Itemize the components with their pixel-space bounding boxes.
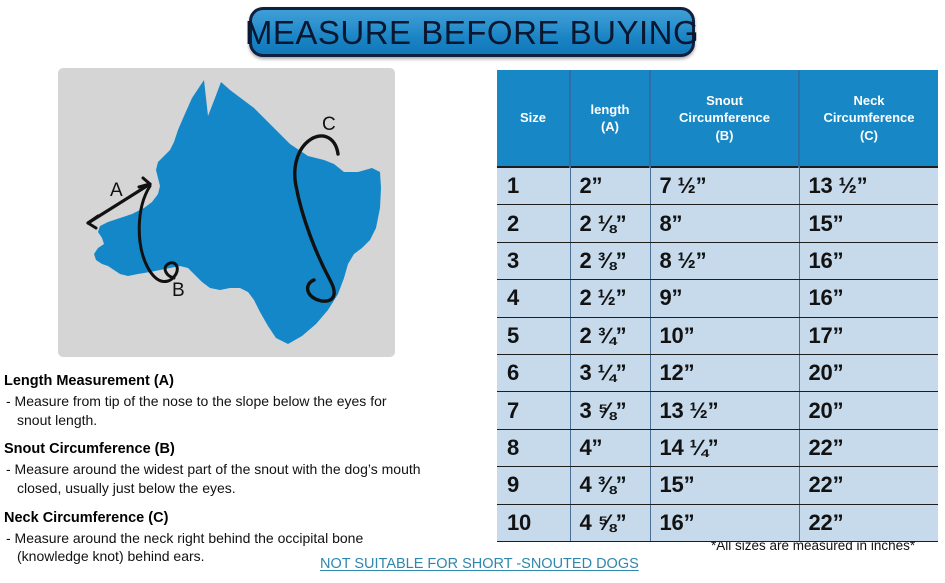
not-suitable-warning: NOT SUITABLE FOR SHORT -SNOUTED DOGS xyxy=(320,556,639,572)
size-cell: 5 xyxy=(497,317,570,354)
table-row: 22 ⅛”8”15” xyxy=(497,205,938,242)
size-cell: 7 xyxy=(497,392,570,429)
table-row: 84”14 ¼”22” xyxy=(497,429,938,466)
length-cell: 2” xyxy=(570,167,650,205)
size-cell: 9 xyxy=(497,467,570,504)
table-row: 42 ½”9”16” xyxy=(497,280,938,317)
table-row: 12”7 ½”13 ½” xyxy=(497,167,938,205)
instruction-block-a: Length Measurement (A) - Measure from ti… xyxy=(4,372,486,429)
length-cell: 2 ⅛” xyxy=(570,205,650,242)
measure-c-label: C xyxy=(322,114,336,135)
column-header-size-line1: Size xyxy=(499,109,567,126)
dog-head-silhouette xyxy=(94,80,381,344)
size-cell: 8 xyxy=(497,429,570,466)
instruction-body-b-line1: - Measure around the widest part of the … xyxy=(6,461,421,477)
neck-cell: 22” xyxy=(799,504,938,541)
neck-cell: 20” xyxy=(799,392,938,429)
column-header-neck: Neck Circumference (C) xyxy=(799,70,938,167)
snout-cell: 7 ½” xyxy=(650,167,799,205)
snout-cell: 16” xyxy=(650,504,799,541)
neck-cell: 22” xyxy=(799,429,938,466)
instruction-block-b: Snout Circumference (B) - Measure around… xyxy=(4,440,486,497)
column-header-neck-line2: Circumference xyxy=(802,109,936,126)
instruction-heading-a: Length Measurement (A) xyxy=(4,372,486,390)
instruction-heading-c: Neck Circumference (C) xyxy=(4,509,486,527)
length-cell: 4 ⅝” xyxy=(570,504,650,541)
size-cell: 3 xyxy=(497,242,570,279)
size-cell: 2 xyxy=(497,205,570,242)
neck-cell: 16” xyxy=(799,280,938,317)
size-chart-table: Size length (A) Snout Circumference (B) … xyxy=(497,70,938,542)
neck-cell: 15” xyxy=(799,205,938,242)
table-row: 73 ⅝”13 ½”20” xyxy=(497,392,938,429)
column-header-snout: Snout Circumference (B) xyxy=(650,70,799,167)
instruction-heading-b: Snout Circumference (B) xyxy=(4,440,486,458)
table-row: 52 ¾”10”17” xyxy=(497,317,938,354)
table-header-row: Size length (A) Snout Circumference (B) … xyxy=(497,70,938,167)
snout-cell: 12” xyxy=(650,354,799,391)
snout-cell: 10” xyxy=(650,317,799,354)
table-row: 94 ⅜”15”22” xyxy=(497,467,938,504)
length-cell: 4 ⅜” xyxy=(570,467,650,504)
length-cell: 2 ¾” xyxy=(570,317,650,354)
length-cell: 3 ¼” xyxy=(570,354,650,391)
instruction-body-c-line1: - Measure around the neck right behind t… xyxy=(6,530,363,546)
column-header-neck-line3: (C) xyxy=(802,127,936,144)
instruction-body-a-line1: - Measure from tip of the nose to the sl… xyxy=(6,393,387,409)
size-cell: 6 xyxy=(497,354,570,391)
neck-cell: 17” xyxy=(799,317,938,354)
page-title: MEASURE BEFORE BUYING xyxy=(245,16,699,49)
title-banner: MEASURE BEFORE BUYING xyxy=(249,7,695,57)
snout-cell: 8 ½” xyxy=(650,242,799,279)
column-header-snout-line1: Snout xyxy=(653,92,796,109)
instruction-body-a: - Measure from tip of the nose to the sl… xyxy=(4,392,486,429)
snout-cell: 9” xyxy=(650,280,799,317)
neck-cell: 16” xyxy=(799,242,938,279)
measure-a-label: A xyxy=(110,180,123,201)
column-header-length: length (A) xyxy=(570,70,650,167)
length-cell: 2 ½” xyxy=(570,280,650,317)
neck-cell: 20” xyxy=(799,354,938,391)
table-row: 32 ⅜”8 ½”16” xyxy=(497,242,938,279)
dog-measurement-diagram: A B C xyxy=(58,68,395,357)
column-header-length-line1: length xyxy=(573,101,647,118)
column-header-size: Size xyxy=(497,70,570,167)
measurement-instructions: Length Measurement (A) - Measure from ti… xyxy=(4,372,486,577)
instruction-body-b-line2: closed, usually just below the eyes. xyxy=(7,479,486,498)
size-cell: 10 xyxy=(497,504,570,541)
instruction-body-b: - Measure around the widest part of the … xyxy=(4,460,486,497)
column-header-snout-line2: Circumference xyxy=(653,109,796,126)
size-cell: 4 xyxy=(497,280,570,317)
length-cell: 4” xyxy=(570,429,650,466)
table-row: 104 ⅝”16”22” xyxy=(497,504,938,541)
length-cell: 2 ⅜” xyxy=(570,242,650,279)
neck-cell: 22” xyxy=(799,467,938,504)
column-header-snout-line3: (B) xyxy=(653,127,796,144)
column-header-length-line2: (A) xyxy=(573,118,647,135)
neck-cell: 13 ½” xyxy=(799,167,938,205)
column-header-neck-line1: Neck xyxy=(802,92,936,109)
snout-cell: 13 ½” xyxy=(650,392,799,429)
length-cell: 3 ⅝” xyxy=(570,392,650,429)
snout-cell: 8” xyxy=(650,205,799,242)
instruction-body-a-line2: snout length. xyxy=(7,411,486,430)
dog-silhouette-shape xyxy=(94,80,381,344)
measure-b-label: B xyxy=(172,280,185,301)
table-row: 63 ¼”12”20” xyxy=(497,354,938,391)
size-cell: 1 xyxy=(497,167,570,205)
snout-cell: 14 ¼” xyxy=(650,429,799,466)
snout-cell: 15” xyxy=(650,467,799,504)
